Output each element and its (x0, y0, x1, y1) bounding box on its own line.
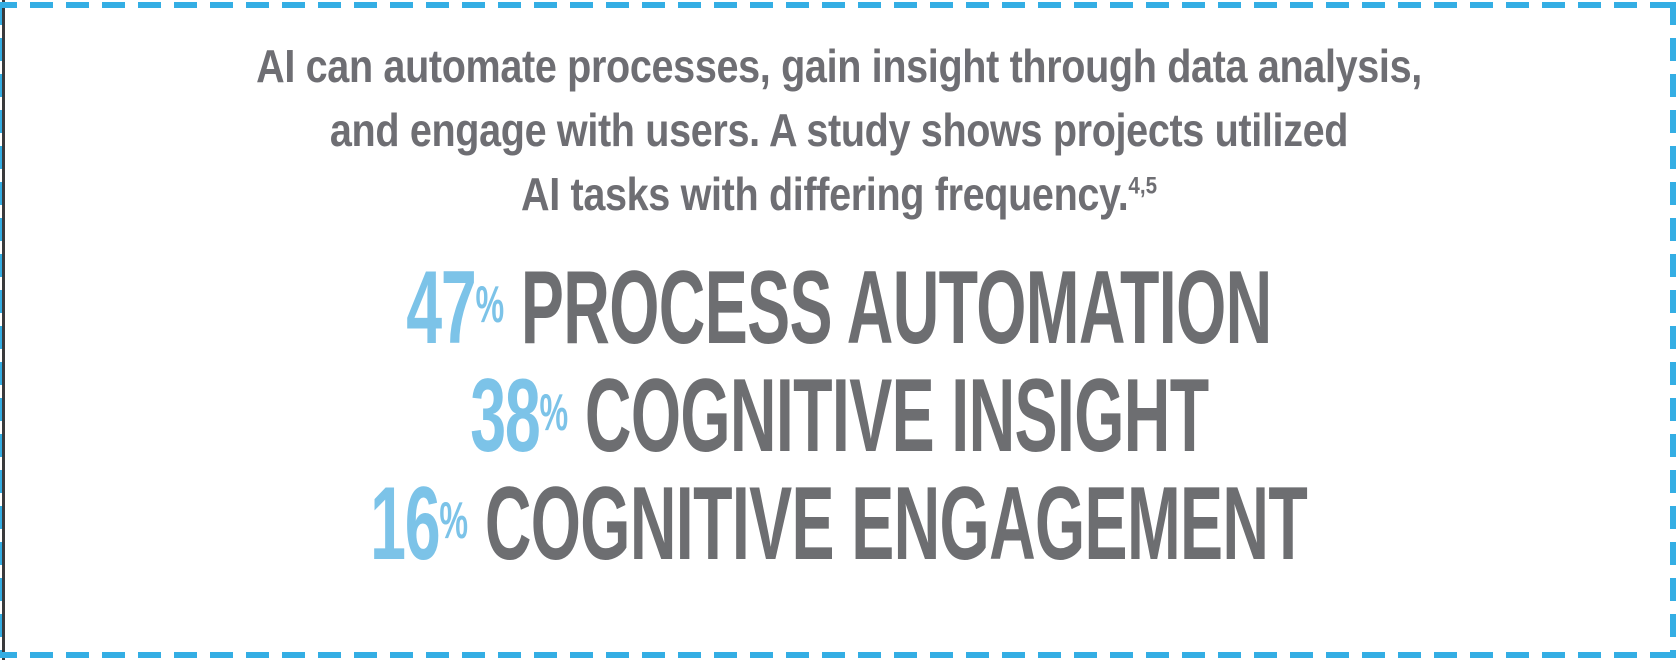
stat-row-process-automation: 47% PROCESS AUTOMATION (406, 254, 1271, 362)
stat-value: 38 (470, 362, 539, 470)
footnote-reference: 4,5 (1128, 173, 1157, 200)
statistics-list: 47% PROCESS AUTOMATION 38% COGNITIVE INS… (0, 254, 1678, 578)
stat-label: PROCESS AUTOMATION (521, 254, 1272, 362)
headline-line-3-text: AI tasks with differing frequency. (521, 168, 1128, 220)
headline-block: AI can automate processes, gain insight … (237, 34, 1441, 226)
card-content: AI can automate processes, gain insight … (0, 0, 1678, 660)
headline-line-1: AI can automate processes, gain insight … (237, 34, 1441, 98)
stat-row-cognitive-insight: 38% COGNITIVE INSIGHT (470, 362, 1208, 470)
infographic-card: AI can automate processes, gain insight … (0, 0, 1678, 660)
stat-value: 47 (406, 254, 475, 362)
stat-value: 16 (371, 470, 440, 578)
headline-line-2: and engage with users. A study shows pro… (237, 98, 1441, 162)
stat-row-cognitive-engagement: 16% COGNITIVE ENGAGEMENT (371, 470, 1308, 578)
headline-line-3: AI tasks with differing frequency.4,5 (237, 162, 1441, 226)
stat-label: COGNITIVE ENGAGEMENT (485, 470, 1307, 578)
stat-label: COGNITIVE INSIGHT (585, 362, 1209, 470)
